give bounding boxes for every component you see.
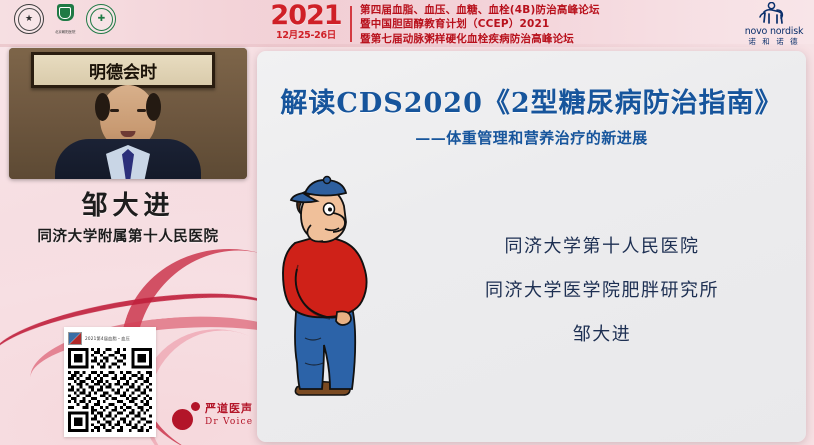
speaker-figure <box>53 85 203 179</box>
event-title-line-2: 暨中国胆固醇教育计划（CCEP）2021 <box>360 17 600 31</box>
brand-logo: 严道医声 Dr Voice <box>172 398 258 438</box>
event-title-line-1: 第四届血脂、血压、血糖、血栓(4B)防治高峰论坛 <box>360 3 600 17</box>
calligraphy-text: 明德会时 <box>34 55 212 85</box>
slide-line-1: 同济大学第十人民医院 <box>432 225 772 269</box>
brand-dots-icon <box>172 402 202 432</box>
event-banner: ★ 北京朝阳医院 ✚ 2021 12月25-26日 第四届血脂、血压、血糖、血栓… <box>0 0 814 47</box>
qr-thumbnail-icon <box>68 332 82 345</box>
event-date-block: 2021 12月25-26日 <box>268 2 344 42</box>
speaker-hair-left <box>95 93 110 121</box>
banner-divider <box>350 6 352 42</box>
speaker-video-feed[interactable]: 明德会时 <box>9 48 247 179</box>
qr-header-text: 2021第4届血脂・血压 <box>85 336 130 342</box>
qr-code-card[interactable]: 2021第4届血脂・血压 <box>64 327 156 437</box>
institution-shield-2-icon: 北京朝阳医院 <box>55 4 75 34</box>
speaker-hair-right <box>146 93 161 121</box>
institution-seal-3-icon: ✚ <box>86 4 116 34</box>
event-dates: 12月25-26日 <box>268 30 344 42</box>
slide-affiliation-lines: 同济大学第十人民医院 同济大学医学院肥胖研究所 邹大进 <box>432 225 772 357</box>
presenter-affiliation: 同济大学附属第十人民医院 <box>0 226 256 248</box>
event-year: 2021 <box>268 2 344 30</box>
sponsor-logo: novo nordisk 诺 和 诺 德 <box>740 1 808 47</box>
brand-name-en: Dr Voice <box>205 416 253 428</box>
slide-subtitle: ——体重管理和营养治疗的新进展 <box>257 127 806 149</box>
institution-seal-1-icon: ★ <box>14 4 44 34</box>
organizer-logos: ★ 北京朝阳医院 ✚ <box>14 4 116 34</box>
bull-icon <box>740 1 808 27</box>
slide-line-3: 邹大进 <box>432 313 772 357</box>
speaker-eye-left <box>110 109 119 112</box>
presentation-slide[interactable]: 解读CDS2020《2型糖尿病防治指南》 ——体重管理和营养治疗的新进展 同 <box>257 51 806 442</box>
presenter-info: 邹大进 同济大学附属第十人民医院 <box>0 188 256 248</box>
presenter-name: 邹大进 <box>0 188 256 224</box>
slide-title: 解读CDS2020《2型糖尿病防治指南》 <box>257 87 806 121</box>
sponsor-name-en: novo nordisk <box>740 27 808 37</box>
event-title-lines: 第四届血脂、血压、血糖、血栓(4B)防治高峰论坛 暨中国胆固醇教育计划（CCEP… <box>360 3 600 46</box>
sponsor-name-cn: 诺 和 诺 德 <box>740 37 808 47</box>
slide-line-2: 同济大学医学院肥胖研究所 <box>432 269 772 313</box>
qr-header: 2021第4届血脂・血压 <box>68 332 152 345</box>
qr-code-icon <box>68 348 152 432</box>
event-title-line-3: 暨第七届动脉粥样硬化血栓疾病防治高峰论坛 <box>360 32 600 46</box>
speaker-eye-right <box>137 109 146 112</box>
brand-name-cn: 严道医声 <box>205 402 253 415</box>
obese-man-cartoon-icon <box>267 173 409 405</box>
calligraphy-frame: 明德会时 <box>31 52 215 88</box>
